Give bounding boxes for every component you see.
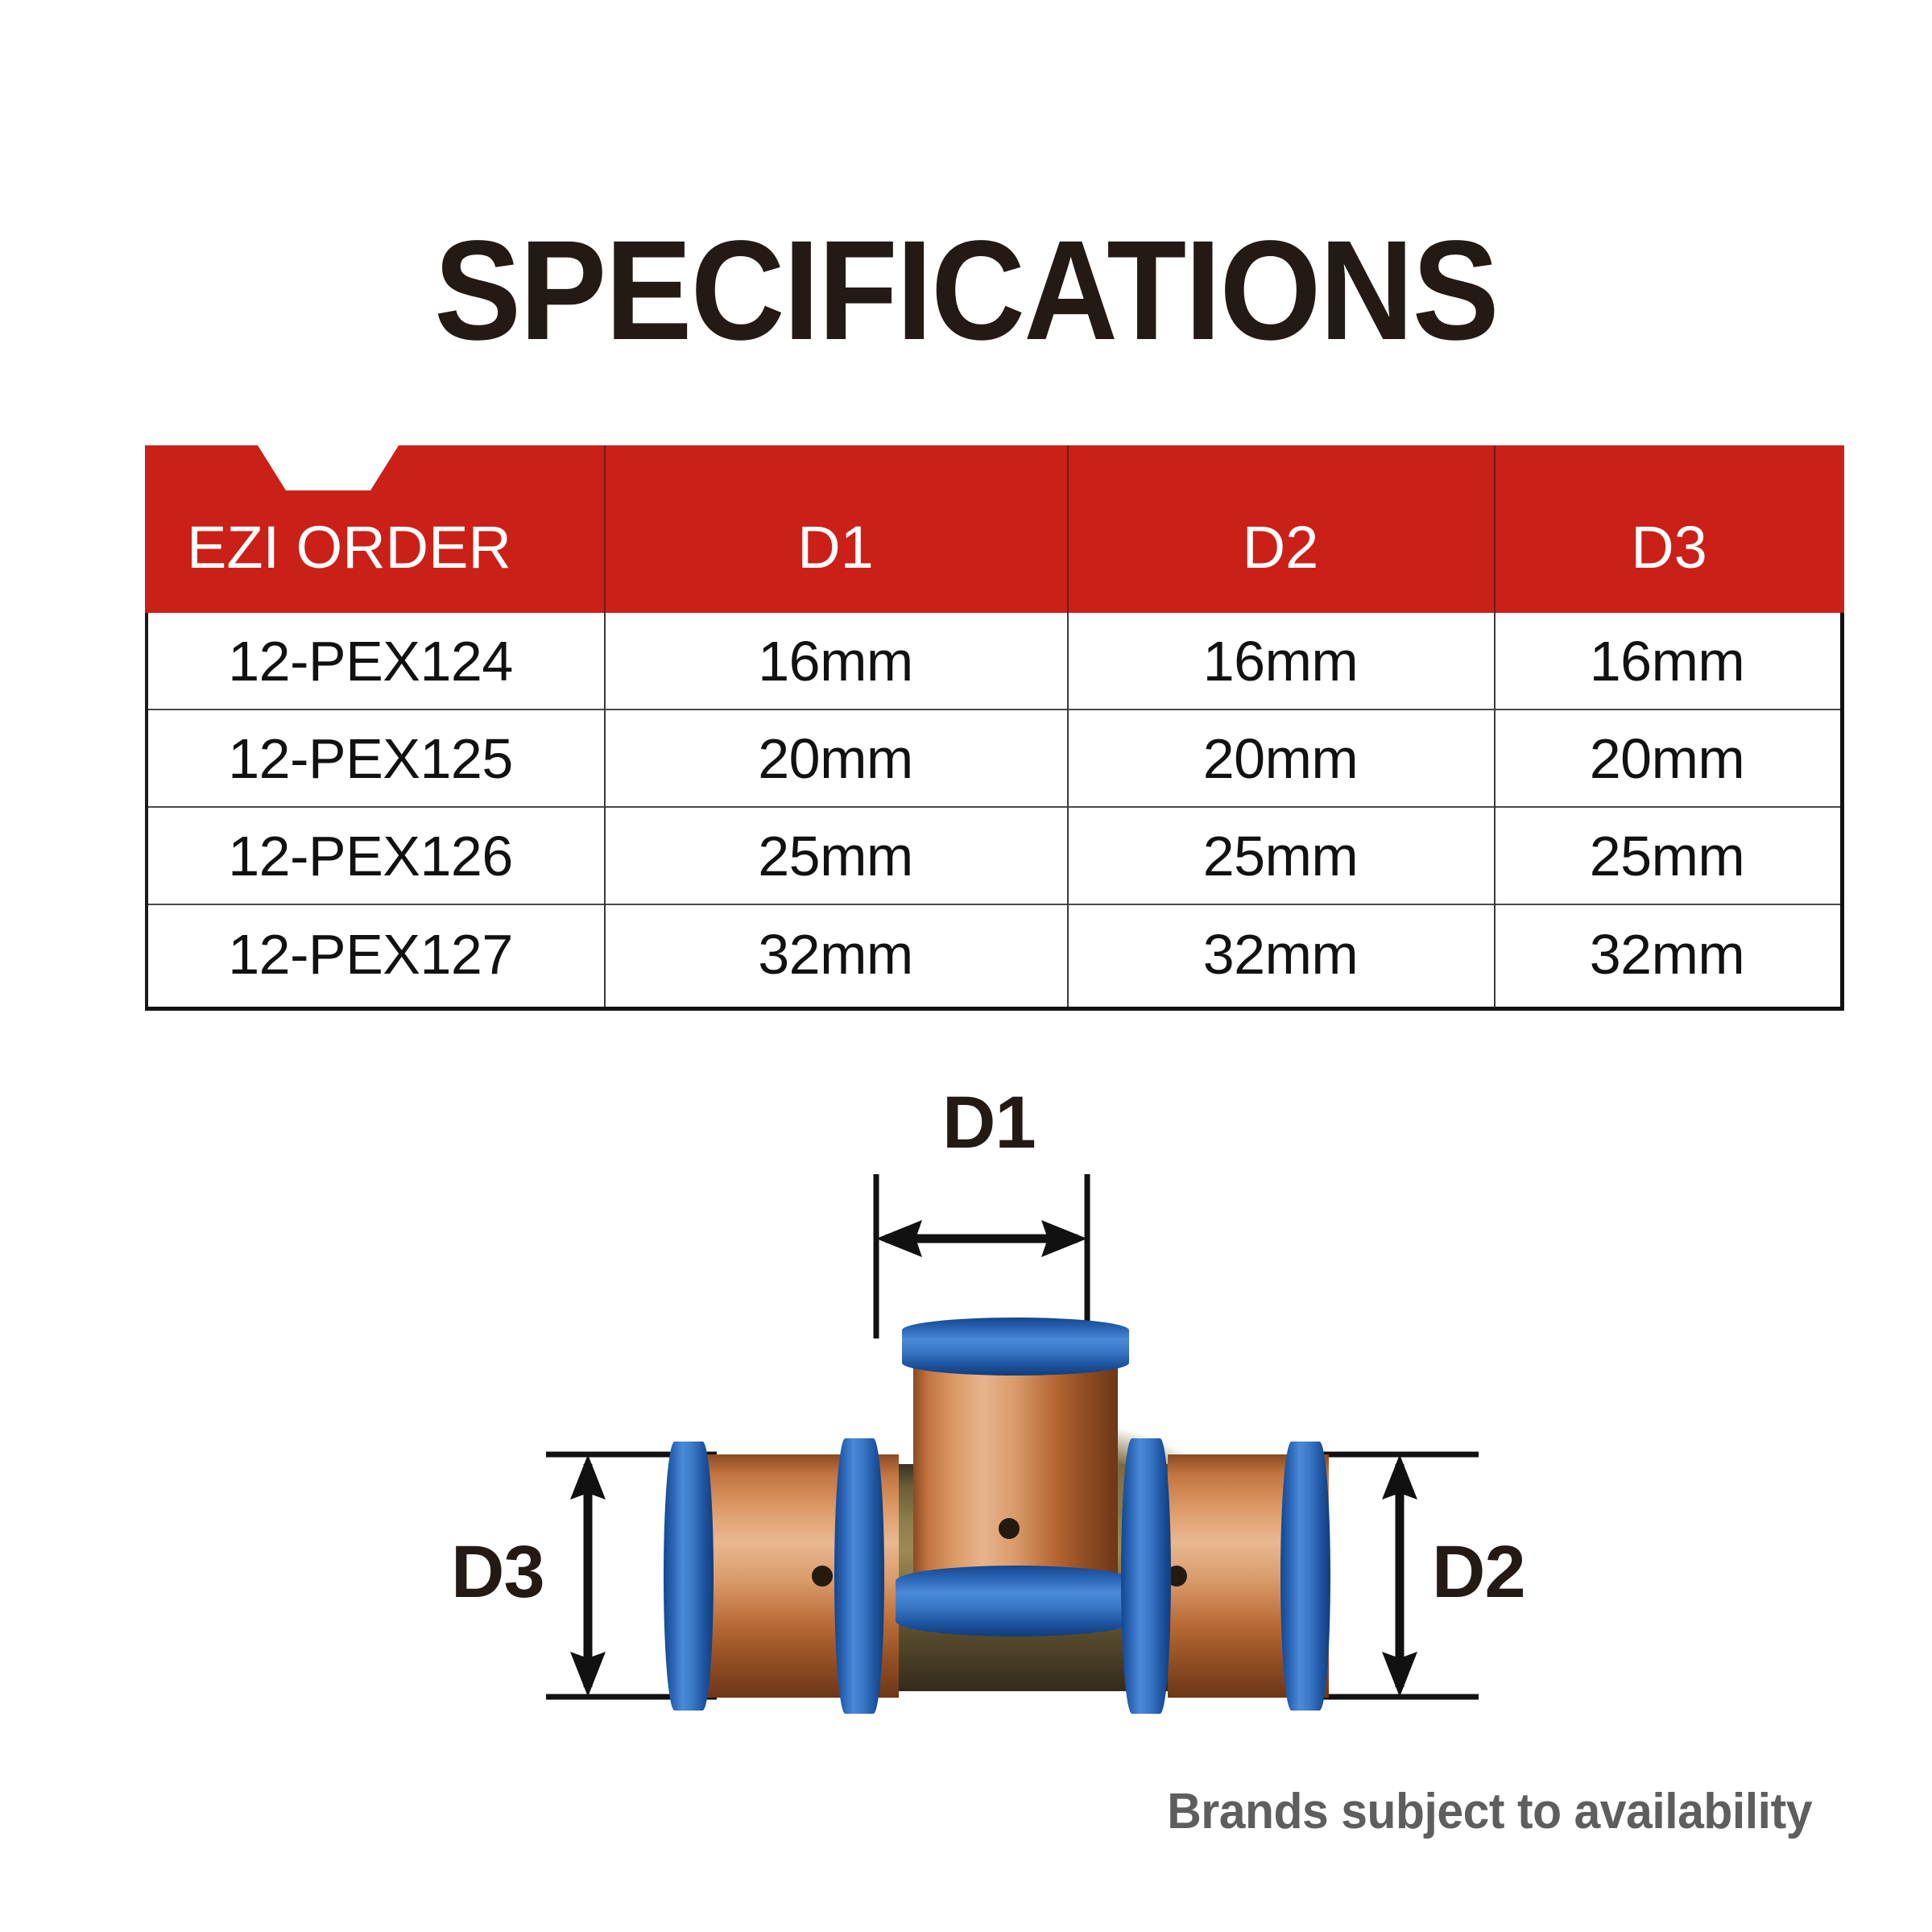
footer-note: Brands subject to availability [91,1783,1813,1840]
cell-d2: 16mm [1067,613,1494,709]
inspection-hole-left [812,1566,833,1587]
product-diagram: D1 [451,1055,1659,1828]
row-divider [1494,613,1496,1007]
header-divider [604,445,606,613]
dimension-label-d2: D2 [1432,1535,1525,1609]
oring-right-inner [1121,1438,1171,1714]
header-divider [1494,445,1496,613]
d2-arrowhead-top [1382,1454,1417,1500]
page-title: SPECIFICATIONS [77,214,1855,367]
d2-arrowhead-bottom [1382,1652,1417,1697]
cell-d2: 32mm [1067,905,1494,1003]
cell-d3: 25mm [1494,808,1840,904]
column-header-d3: D3 [1494,445,1844,613]
column-header-d1: D1 [604,445,1067,613]
cell-ezi-order: 12-PEX126 [148,808,604,904]
cell-d2: 20mm [1067,710,1494,806]
row-divider [1067,613,1069,1007]
table-body: 12-PEX124 16mm 16mm 16mm 12-PEX125 20mm … [145,613,1844,1011]
table-header-row: EZI ORDER D1 D2 D3 [145,445,1844,613]
cell-d3: 16mm [1494,613,1840,709]
d1-arrowhead-right [1041,1220,1087,1257]
table-row: 12-PEX126 25mm 25mm 25mm [148,808,1840,905]
cell-d1: 25mm [604,808,1067,904]
table-row: 12-PEX127 32mm 32mm 32mm [148,905,1840,1003]
cell-ezi-order: 12-PEX125 [148,710,604,806]
cell-ezi-order: 12-PEX127 [148,905,604,1003]
table-row: 12-PEX125 20mm 20mm 20mm [148,710,1840,808]
d1-arrowhead-left [876,1220,922,1257]
cell-d1: 16mm [604,613,1067,709]
column-header-ezi-order: EZI ORDER [145,445,604,613]
cell-d3: 20mm [1494,710,1840,806]
oring-right-outer [1280,1442,1330,1711]
d3-arrowhead-top [570,1454,606,1500]
oring-top-lower [896,1566,1136,1636]
row-divider [604,613,606,1007]
inspection-hole-top [999,1518,1020,1539]
header-divider [1067,445,1069,613]
dimension-label-d3: D3 [451,1535,544,1609]
cell-d2: 25mm [1067,808,1494,904]
cell-d3: 32mm [1494,905,1840,1003]
cell-ezi-order: 12-PEX124 [148,613,604,709]
oring-left-outer [664,1442,714,1711]
cell-d1: 32mm [604,905,1067,1003]
oring-left-inner [834,1438,884,1714]
column-header-d2: D2 [1067,445,1494,613]
oring-top-upper [902,1318,1129,1376]
table-row: 12-PEX124 16mm 16mm 16mm [148,613,1840,710]
specifications-table: EZI ORDER D1 D2 D3 12-PEX124 16mm 16mm 1… [145,445,1844,1011]
d3-arrowhead-bottom [570,1652,606,1697]
cell-d1: 20mm [604,710,1067,806]
